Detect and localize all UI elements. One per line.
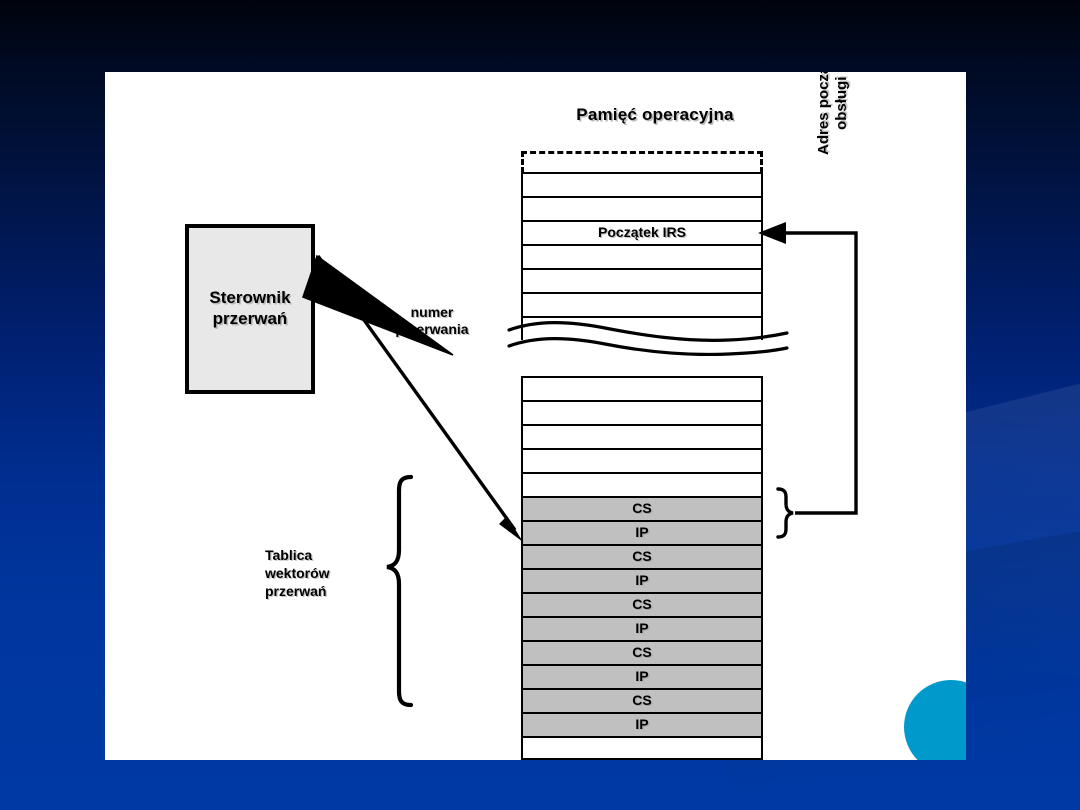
memory-column: Początek IRSCSIPCSIPCSIPCSIPCSIP [521,172,763,760]
memory-row-empty [521,400,763,424]
isr-address-line2: obsługi przerwania [833,72,851,227]
interrupt-number-label: numer przerwania [367,304,497,338]
memory-row-cs: CS [521,496,763,520]
memory-row-cs: CS [521,544,763,568]
memory-break-squiggle-icon [507,316,789,356]
memory-top-dashed-bracket [521,151,763,173]
slide-root: Pamięć operacyjna Początek IRSCSIPCSIPCS… [0,0,1080,810]
memory-row-ip: IP [521,568,763,592]
interrupt-controller-label: Sterownik przerwań [209,288,290,329]
isr-address-line1: Adres początku programu [815,72,832,155]
memory-row-empty [521,268,763,292]
cyan-q-logo [895,677,966,760]
memory-row-ip: IP [521,520,763,544]
memory-row-ip: IP [521,712,763,736]
interrupt-number-line1: numer [411,304,454,320]
controller-to-vector-arrow-line [318,256,515,530]
isr-address-label: Adres początku programu obsługi przerwan… [815,72,852,227]
memory-row-empty [521,196,763,220]
diagram-title: Pamięć operacyjna [525,105,785,125]
memory-row-empty [521,376,763,400]
memory-row-cs: CS [521,688,763,712]
driver-label-line2: przerwań [213,309,288,328]
interrupt-controller-box: Sterownik przerwań [185,224,315,394]
slide-picture-panel: Pamięć operacyjna Początek IRSCSIPCSIPCS… [105,72,966,760]
isr-vector-brace-icon [778,489,793,537]
memory-row-ip: IP [521,616,763,640]
memory-row-empty [521,172,763,196]
interrupt-number-line2: przerwania [395,321,468,337]
memory-row-empty [521,244,763,268]
memory-row-empty [521,472,763,496]
memory-row-empty [521,736,763,760]
memory-row-cs: CS [521,640,763,664]
controller-to-vector-arrowhead-icon [499,516,523,542]
memory-row-ip: IP [521,664,763,688]
vector-table-line3: przerwań [265,583,326,599]
vector-table-brace-icon [387,477,411,705]
vector-table-line1: Tablica [265,547,312,563]
isr-address-path-line [777,233,856,513]
memory-row-empty [521,448,763,472]
memory-row-cs: CS [521,592,763,616]
driver-label-line1: Sterownik [209,288,290,307]
memory-row-empty [521,424,763,448]
vector-table-line2: wektorów [265,565,330,581]
vector-table-label: Tablica wektorów przerwań [265,547,385,601]
memory-row-pocz-tek-irs: Początek IRS [521,220,763,244]
memory-row-empty [521,292,763,316]
